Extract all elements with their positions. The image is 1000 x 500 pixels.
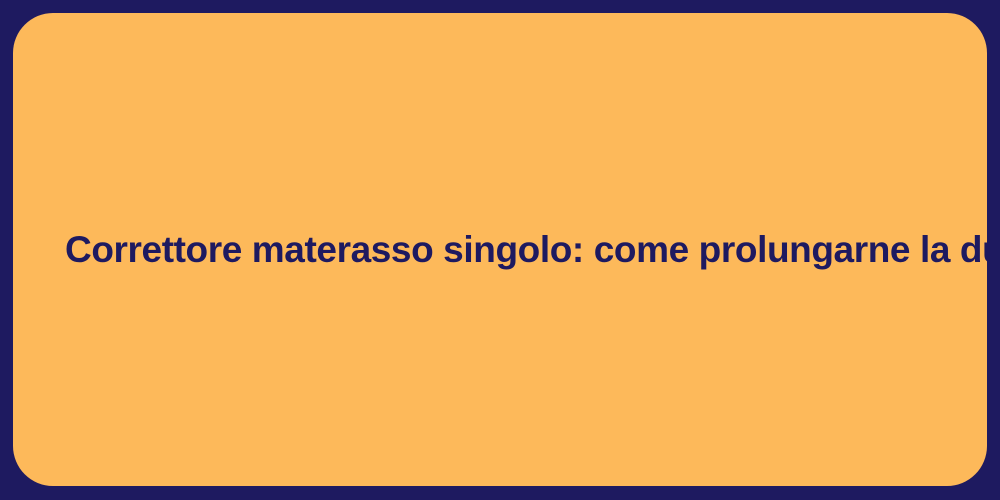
page-frame: Correttore materasso singolo: come prolu…: [0, 0, 1000, 500]
page-title: Correttore materasso singolo: come prolu…: [65, 228, 987, 272]
title-card-panel: Correttore materasso singolo: come prolu…: [13, 13, 987, 486]
